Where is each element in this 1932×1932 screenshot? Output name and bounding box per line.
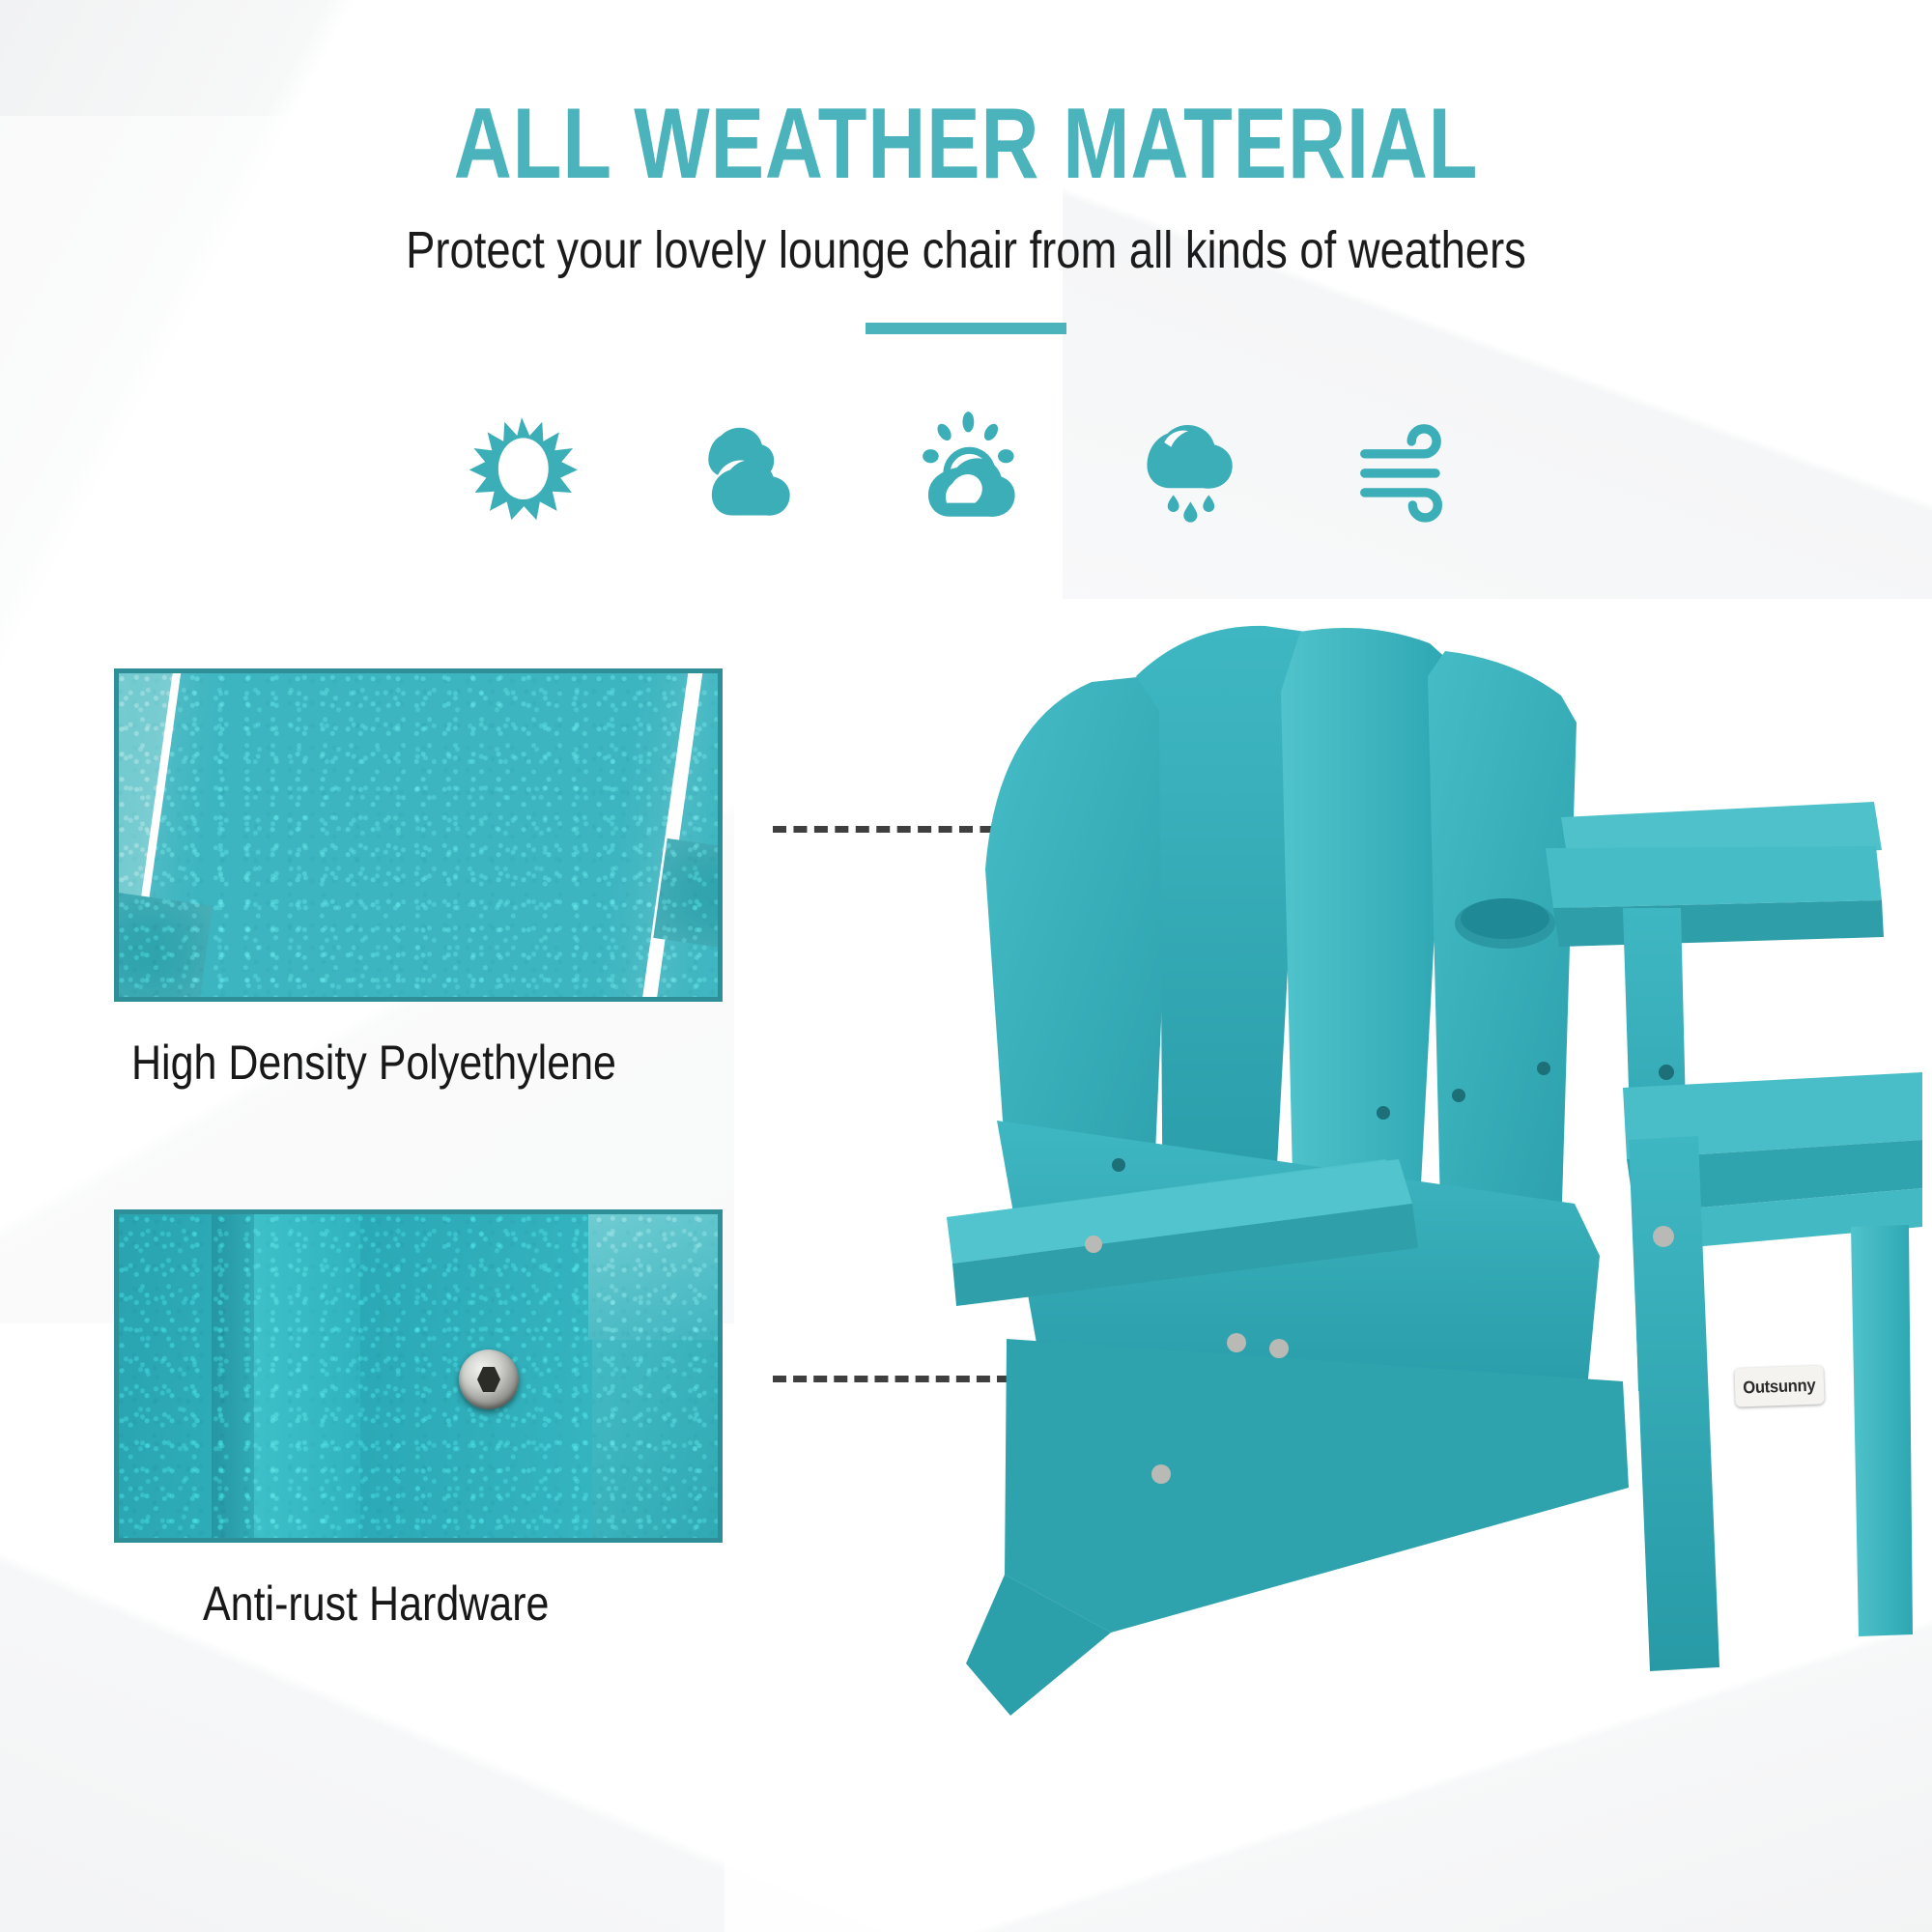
accent-divider bbox=[866, 323, 1066, 334]
header: ALL WEATHER MATERIAL Protect your lovely… bbox=[0, 0, 1932, 334]
sun-icon bbox=[460, 411, 583, 525]
callout-hardware-label: Anti-rust Hardware bbox=[203, 1576, 650, 1632]
hex-screw-icon bbox=[459, 1350, 519, 1409]
callout-hdpe-label: High Density Polyethylene bbox=[131, 1035, 639, 1091]
weather-icon-row bbox=[0, 411, 1932, 525]
callout-hardware: Anti-rust Hardware bbox=[114, 1209, 723, 1632]
hdpe-texture-grain bbox=[119, 673, 718, 997]
cloudy-icon bbox=[682, 411, 806, 525]
brand-logo-text: Outsunny bbox=[1743, 1375, 1816, 1398]
poster-canvas: ALL WEATHER MATERIAL Protect your lovely… bbox=[0, 0, 1932, 1932]
callout-hdpe: High Density Polyethylene bbox=[114, 668, 723, 1091]
chair-illustration bbox=[947, 618, 1922, 1864]
chair-leg-far-right bbox=[1851, 1225, 1913, 1636]
brand-logo-tag: Outsunny bbox=[1734, 1365, 1824, 1406]
wind-icon bbox=[1349, 411, 1472, 525]
chair-seat-underside bbox=[1005, 1339, 1629, 1633]
hdpe-slat-scene bbox=[119, 673, 718, 997]
page-title: ALL WEATHER MATERIAL bbox=[193, 0, 1739, 195]
callout-hardware-image bbox=[114, 1209, 723, 1543]
hardware-scene bbox=[119, 1214, 718, 1538]
product-image-adirondack-chair bbox=[947, 618, 1922, 1864]
rain-cloud-icon bbox=[1126, 411, 1250, 525]
callout-hdpe-image bbox=[114, 668, 723, 1002]
page-subtitle: Protect your lovely lounge chair from al… bbox=[155, 195, 1777, 280]
hardware-texture-grain bbox=[119, 1214, 718, 1538]
partly-sunny-icon bbox=[904, 411, 1028, 525]
